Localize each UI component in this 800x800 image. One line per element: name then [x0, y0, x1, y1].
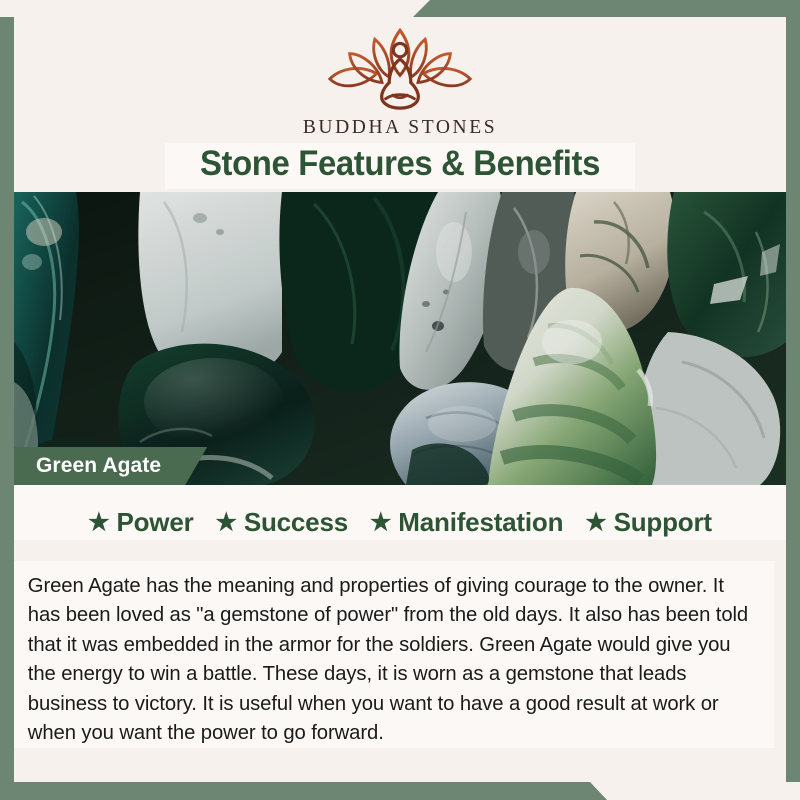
benefit-item-power: ★ Power	[88, 507, 193, 538]
star-icon: ★	[88, 511, 109, 535]
benefit-item-support: ★ Support	[585, 507, 712, 538]
frame-accent-bottom-left	[0, 782, 800, 800]
star-icon: ★	[370, 511, 391, 535]
brand-name: BUDDHA STONES	[303, 117, 497, 139]
page-title: Stone Features & Benefits	[37, 141, 763, 187]
benefit-label: Manifestation	[398, 507, 563, 538]
benefit-label: Success	[244, 507, 348, 538]
lotus-meditation-icon	[310, 23, 490, 115]
benefits-list: ★ Power ★ Success ★ Manifestation ★ Supp…	[14, 485, 786, 540]
benefit-item-success: ★ Success	[216, 507, 348, 538]
stone-photo-illustration	[14, 192, 786, 485]
card-header: BUDDHA STONES Stone Features & Benefits	[14, 17, 786, 192]
frame-accent-right	[786, 0, 800, 782]
stone-photo: Green Agate	[14, 192, 786, 485]
brand-logo: BUDDHA STONES	[14, 23, 786, 139]
star-icon: ★	[585, 511, 606, 535]
description-paragraph: Green Agate has the meaning and properti…	[14, 561, 774, 748]
frame-accent-left	[0, 17, 14, 783]
stone-name-badge: Green Agate	[14, 447, 207, 485]
benefit-item-manifestation: ★ Manifestation	[370, 507, 563, 538]
card-canvas: BUDDHA STONES Stone Features & Benefits	[14, 17, 786, 782]
benefit-label: Power	[116, 507, 193, 538]
infographic-card: BUDDHA STONES Stone Features & Benefits	[0, 0, 800, 800]
star-icon: ★	[216, 511, 237, 535]
frame-accent-top-right	[0, 0, 800, 17]
benefit-label: Support	[614, 507, 712, 538]
